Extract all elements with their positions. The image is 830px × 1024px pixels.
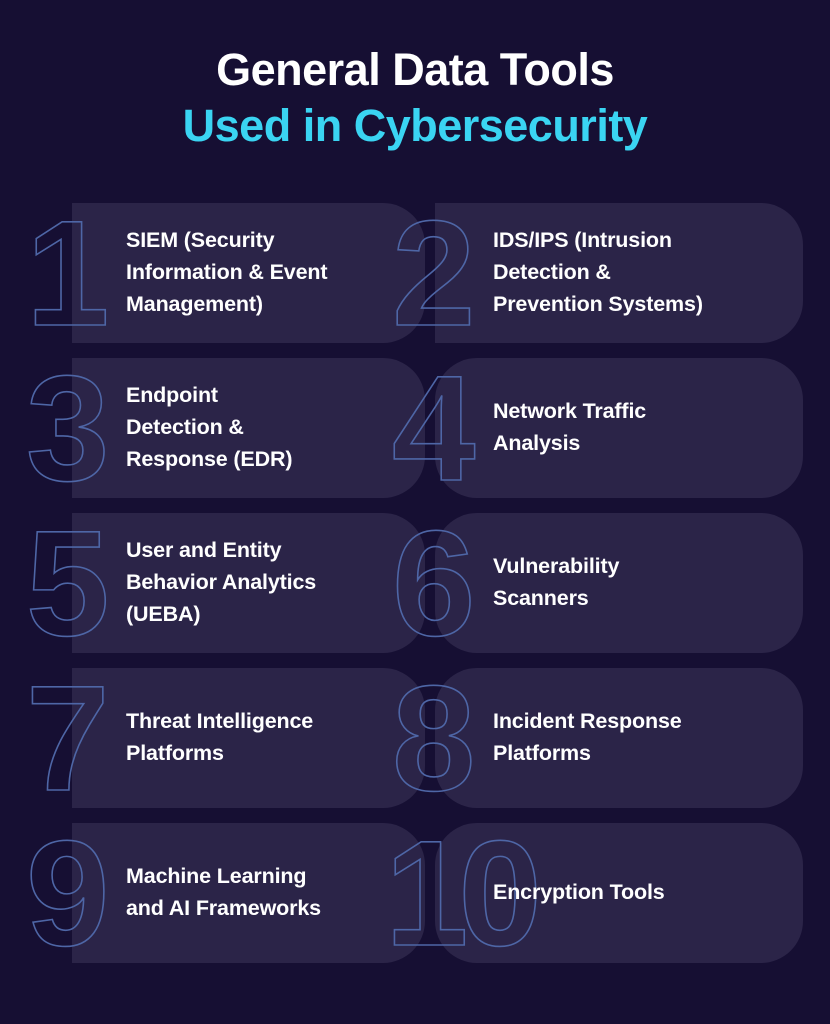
list-item-9[interactable]: Machine Learning and AI Frameworks xyxy=(72,823,425,963)
list-item-4[interactable]: Network Traffic Analysis xyxy=(435,358,803,498)
list-item-label: Machine Learning and AI Frameworks xyxy=(72,861,339,925)
list-item-label: Network Traffic Analysis xyxy=(435,396,664,460)
title-line-accent: Used in Cybersecurity xyxy=(0,98,830,154)
list-row: 3 Endpoint Detection & Response (EDR) 4 … xyxy=(0,358,830,498)
list-item-1[interactable]: SIEM (Security Information & Event Manag… xyxy=(72,203,425,343)
list-item-label: Incident Response Platforms xyxy=(435,706,700,770)
list-item-7[interactable]: Threat Intelligence Platforms xyxy=(72,668,425,808)
title-line-primary: General Data Tools xyxy=(0,42,830,98)
list-item-label: Endpoint Detection & Response (EDR) xyxy=(72,380,310,475)
list-row: 7 Threat Intelligence Platforms 8 Incide… xyxy=(0,668,830,808)
list-item-label: Threat Intelligence Platforms xyxy=(72,706,331,770)
list-row: 1 SIEM (Security Information & Event Man… xyxy=(0,203,830,343)
list-item-label: SIEM (Security Information & Event Manag… xyxy=(72,225,345,320)
list-item-2[interactable]: IDS/IPS (Intrusion Detection & Preventio… xyxy=(435,203,803,343)
list-item-3[interactable]: Endpoint Detection & Response (EDR) xyxy=(72,358,425,498)
list-item-5[interactable]: User and Entity Behavior Analytics (UEBA… xyxy=(72,513,425,653)
infographic-poster: General Data Tools Used in Cybersecurity… xyxy=(0,0,830,1024)
list-item-label: IDS/IPS (Intrusion Detection & Preventio… xyxy=(435,225,721,320)
tools-list: 1 SIEM (Security Information & Event Man… xyxy=(0,203,830,963)
list-item-label: Encryption Tools xyxy=(435,877,683,909)
list-item-10[interactable]: Encryption Tools xyxy=(435,823,803,963)
list-row: 5 User and Entity Behavior Analytics (UE… xyxy=(0,513,830,653)
page-title: General Data Tools Used in Cybersecurity xyxy=(0,42,830,155)
list-item-label: Vulnerability Scanners xyxy=(435,551,637,615)
list-item-label: User and Entity Behavior Analytics (UEBA… xyxy=(72,535,334,630)
list-item-6[interactable]: Vulnerability Scanners xyxy=(435,513,803,653)
list-row: 9 Machine Learning and AI Frameworks 10 … xyxy=(0,823,830,963)
list-item-8[interactable]: Incident Response Platforms xyxy=(435,668,803,808)
